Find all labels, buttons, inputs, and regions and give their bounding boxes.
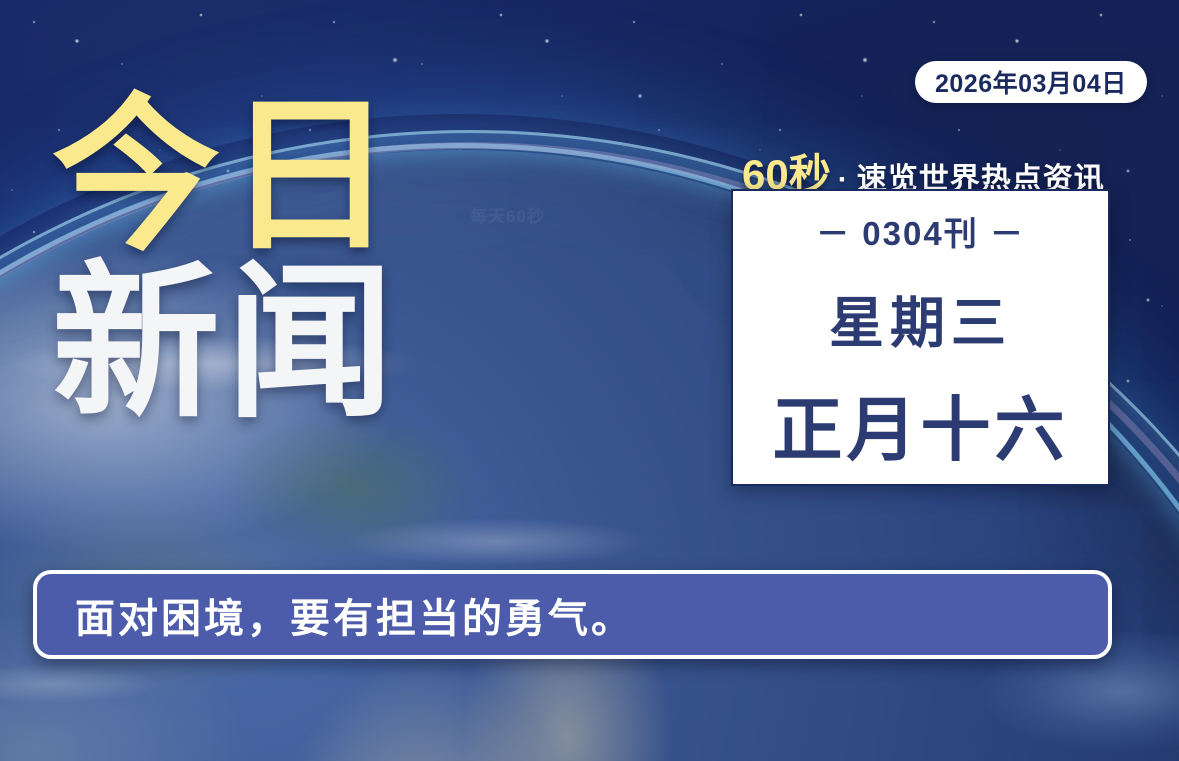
headline-line-2: 新闻 — [52, 263, 400, 424]
date-badge-label: 2026年03月04日 — [935, 64, 1127, 100]
news-poster: 每天60秒 今日 新闻 2026年03月04日 60秒 · 速览世界热点资讯 －… — [0, 0, 1179, 761]
date-badge: 2026年03月04日 — [915, 61, 1147, 103]
quote-bar: 面对困境，要有担当的勇气。 — [33, 570, 1112, 659]
lunar-date-label: 正月十六 — [773, 374, 1069, 475]
weekday-label: 星期三 — [829, 278, 1012, 358]
headline-line-1: 今日 — [52, 96, 400, 257]
watermark-text: 每天60秒 — [470, 202, 545, 227]
issue-number: － 0304刊 － — [816, 207, 1025, 255]
page-title: 今日 新闻 — [52, 96, 400, 425]
issue-card: － 0304刊 － 星期三 正月十六 — [731, 189, 1110, 486]
quote-text: 面对困境，要有担当的勇气。 — [37, 586, 634, 644]
